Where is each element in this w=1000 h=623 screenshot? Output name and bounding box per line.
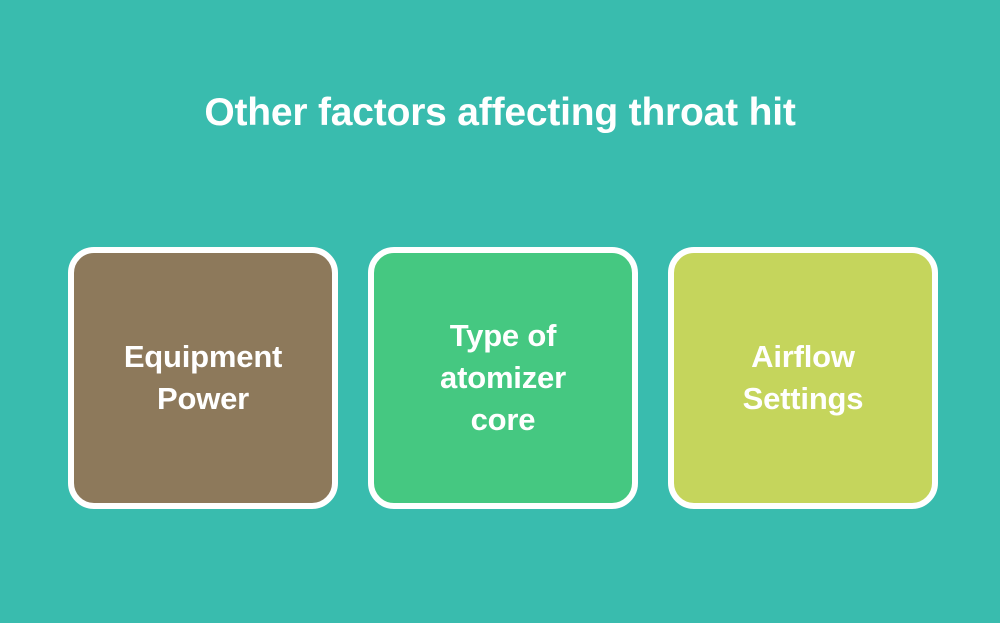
slide-canvas: Other factors affecting throat hit Equip… — [0, 0, 1000, 623]
page-title: Other factors affecting throat hit — [0, 84, 1000, 142]
factor-card-label: Type of atomizer core — [440, 315, 566, 441]
factor-card-label: Airflow Settings — [743, 336, 864, 420]
factor-card-label: Equipment Power — [124, 336, 282, 420]
factor-card-equipment-power[interactable]: Equipment Power — [68, 247, 338, 509]
factor-card-airflow-settings[interactable]: Airflow Settings — [668, 247, 938, 509]
factor-card-row: Equipment Power Type of atomizer core Ai… — [68, 247, 938, 509]
factor-card-atomizer-core[interactable]: Type of atomizer core — [368, 247, 638, 509]
